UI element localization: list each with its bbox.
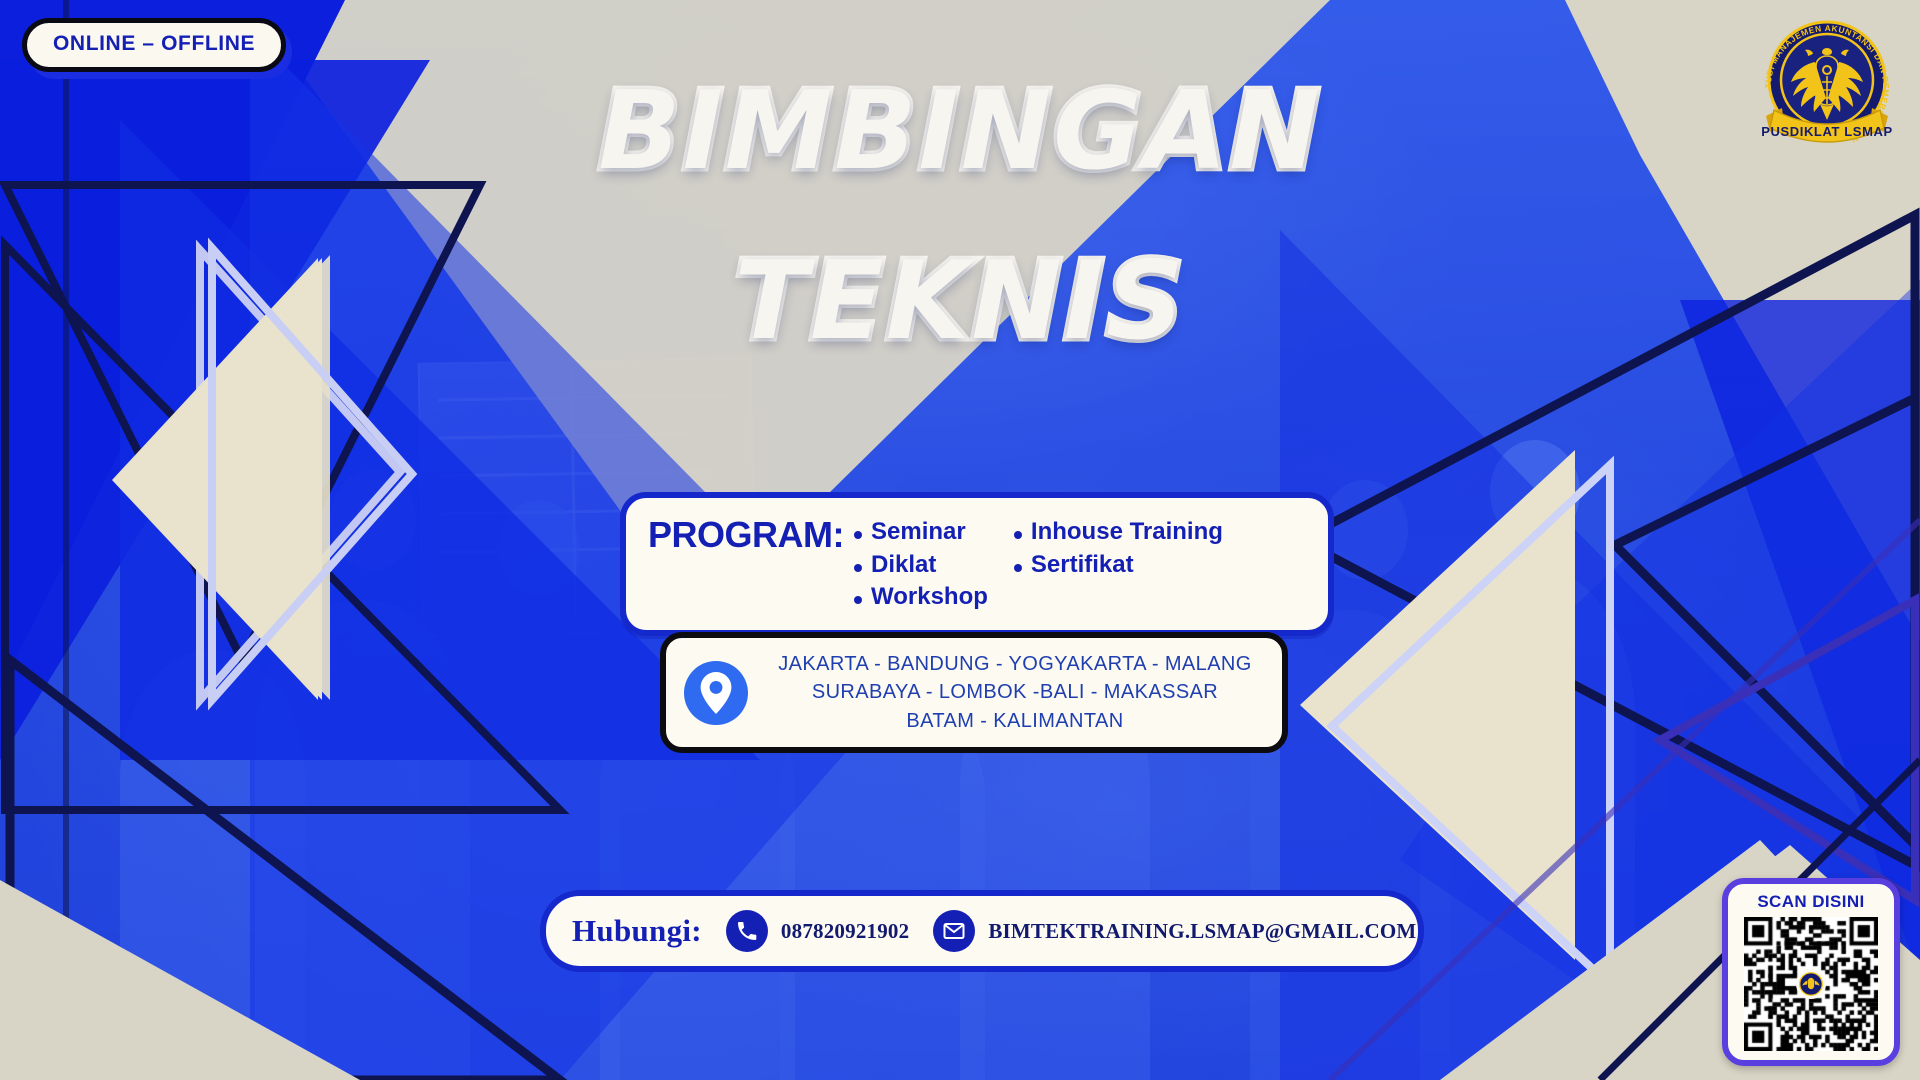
email-contact[interactable]: BIMTEKTRAINING.LSMAP@GMAIL.COM <box>933 910 1416 952</box>
program-list-left: Seminar Diklat Workshop <box>854 516 988 614</box>
logo-ribbon-text: PUSDIKLAT LSMAP <box>1761 124 1893 139</box>
bullet-icon <box>854 564 862 572</box>
location-line: BATAM - KALIMANTAN <box>766 707 1264 735</box>
contact-label: Hubungi: <box>572 913 702 949</box>
list-item: Workshop <box>854 581 988 614</box>
program-item-label: Seminar <box>871 516 966 549</box>
list-item: Inhouse Training <box>1014 516 1223 549</box>
map-pin-icon <box>684 661 748 725</box>
program-item-label: Workshop <box>871 581 988 614</box>
phone-number: 087820921902 <box>781 919 909 944</box>
list-item: Diklat <box>854 549 988 582</box>
phone-contact[interactable]: 087820921902 <box>726 910 909 952</box>
list-item: Sertifikat <box>1014 549 1223 582</box>
program-list-right: Inhouse Training Sertifikat <box>1014 516 1223 614</box>
bullet-icon <box>854 596 862 604</box>
program-card: PROGRAM: Seminar Diklat Workshop <box>620 492 1334 636</box>
qr-scan-card[interactable]: SCAN DISINI <box>1722 878 1900 1066</box>
list-item: Seminar <box>854 516 988 549</box>
qr-title: SCAN DISINI <box>1736 892 1886 912</box>
email-address: BIMTEKTRAINING.LSMAP@GMAIL.COM <box>988 919 1416 944</box>
phone-icon <box>726 910 768 952</box>
lsmap-seal-icon <box>1796 969 1826 999</box>
online-offline-badge[interactable]: ONLINE – OFFLINE <box>22 18 286 72</box>
bullet-icon <box>1014 531 1022 539</box>
location-line: JAKARTA - BANDUNG - YOGYAKARTA - MALANG <box>766 650 1264 678</box>
qr-code-icon[interactable] <box>1744 917 1878 1051</box>
bullet-icon <box>1014 564 1022 572</box>
title-line-1: BIMBINGAN <box>0 78 1920 186</box>
title-line-2: TEKNIS <box>0 248 1920 356</box>
envelope-icon <box>933 910 975 952</box>
program-item-label: Inhouse Training <box>1031 516 1223 549</box>
poster-canvas: ONLINE – OFFLINE BIMBINGAN TEKNIS PROGRA… <box>0 0 1920 1080</box>
program-item-label: Sertifikat <box>1031 549 1134 582</box>
program-item-label: Diklat <box>871 549 936 582</box>
lsmap-logo: LEMBAGA STUDI MANAJEMEN AKUNTANSI DAN PE… <box>1752 12 1902 162</box>
location-line: SURABAYA - LOMBOK -BALI - MAKASSAR <box>766 678 1264 706</box>
bullet-icon <box>854 531 862 539</box>
contact-card: Hubungi: 087820921902 BIMTEKTRAINING.LSM… <box>540 890 1424 972</box>
locations-card: JAKARTA - BANDUNG - YOGYAKARTA - MALANG … <box>660 632 1288 753</box>
page-title: BIMBINGAN TEKNIS <box>0 78 1920 356</box>
online-offline-label: ONLINE – OFFLINE <box>53 32 255 55</box>
program-label: PROGRAM: <box>648 512 844 555</box>
